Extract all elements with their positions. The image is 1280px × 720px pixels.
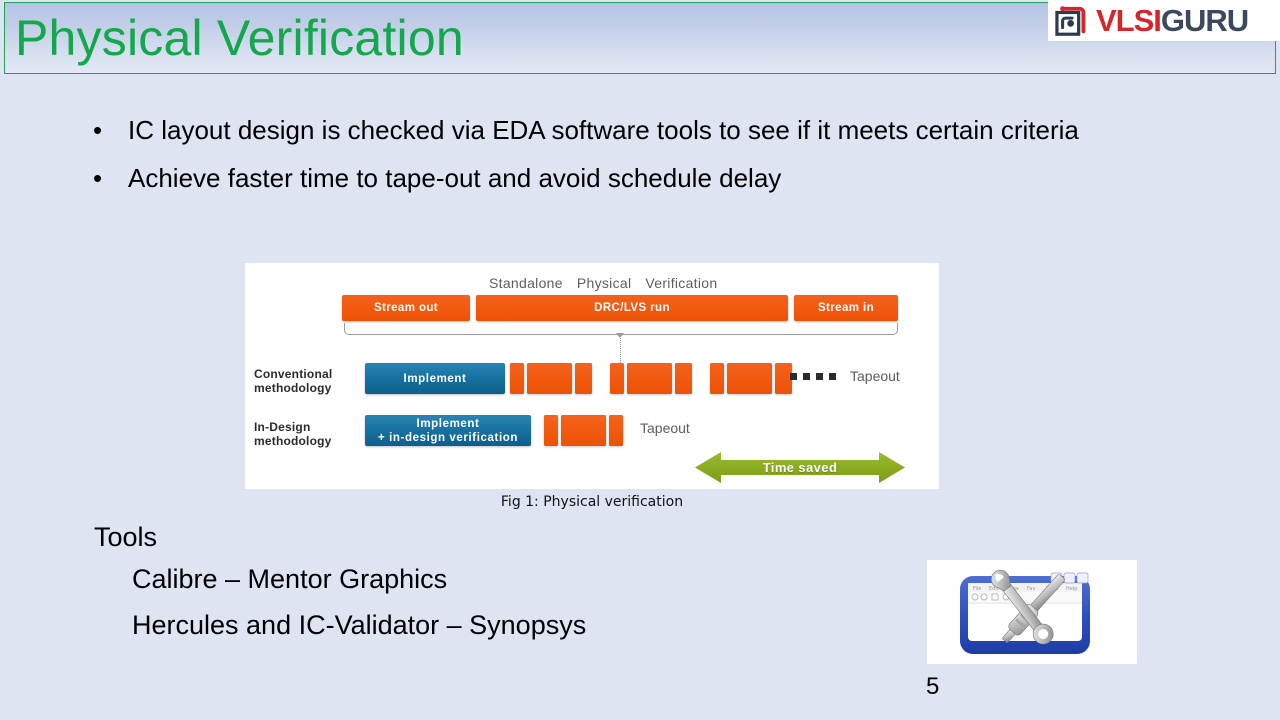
figure-row-label-in-design: In-Design methodology bbox=[254, 420, 332, 448]
figure-bar-label: Stream out bbox=[342, 295, 470, 321]
bullet-marker: • bbox=[88, 110, 128, 150]
svg-text:File: File bbox=[973, 586, 981, 592]
figure-header-standalone-physical-verification: StandalonePhysicalVerification bbox=[489, 275, 717, 291]
figure-bar-segment bbox=[727, 363, 772, 394]
figure-bar-segment bbox=[527, 363, 572, 394]
page-title: Physical Verification bbox=[15, 5, 464, 71]
bullet-text: IC layout design is checked via EDA soft… bbox=[128, 110, 1208, 150]
figure-bar-segment bbox=[710, 363, 724, 394]
figure-bar-label: Implement bbox=[417, 417, 480, 431]
figure-row-label-line: Conventional bbox=[254, 367, 332, 381]
vlsiguru-spiral-icon bbox=[1054, 4, 1092, 38]
figure-bar-label-secondary: + in-design verification bbox=[378, 431, 518, 445]
svg-text:Help: Help bbox=[1066, 586, 1077, 592]
figure-row-label-conventional: Conventional methodology bbox=[254, 367, 332, 395]
figure-bar-segment bbox=[510, 363, 524, 394]
bullet-marker: • bbox=[88, 158, 128, 198]
logo-text-guru: GURU bbox=[1161, 3, 1248, 38]
tools-heading: Tools bbox=[94, 518, 586, 556]
figure-row-label-line: methodology bbox=[254, 381, 332, 395]
figure-header-word: Standalone bbox=[489, 275, 563, 291]
tools-window-wrench-screwdriver-icon: File Edit View Fav Tools Help bbox=[927, 560, 1137, 664]
figure-bar-implement-in-design: Implement + in-design verification bbox=[365, 415, 531, 446]
page-number: 5 bbox=[926, 672, 939, 702]
slide-root: Physical Verification VLSIGURU • IC layo… bbox=[0, 0, 1280, 720]
figure-time-saved-label: Time saved bbox=[695, 451, 905, 484]
tools-list-item: Calibre – Mentor Graphics bbox=[132, 556, 586, 602]
figure-tapeout-dots-icon bbox=[790, 373, 836, 380]
bullet-item: • Achieve faster time to tape-out and av… bbox=[88, 158, 1208, 198]
figure-bar-segment bbox=[575, 363, 592, 394]
figure-bar-label: Stream in bbox=[794, 295, 898, 321]
tools-section: Tools Calibre – Mentor Graphics Hercules… bbox=[94, 518, 586, 648]
figure-row-label-line: methodology bbox=[254, 434, 332, 448]
figure-bar-segment bbox=[627, 363, 672, 394]
svg-text:Fav: Fav bbox=[1027, 586, 1035, 592]
figure-bar-segment bbox=[561, 415, 606, 446]
brand-logo-wordmark: VLSIGURU bbox=[1096, 4, 1248, 38]
figure-bar-segment bbox=[544, 415, 558, 446]
figure-caption: Fig 1: Physical verification bbox=[245, 494, 939, 510]
figure-bar-stream-out: Stream out bbox=[342, 295, 470, 321]
bullet-item: • IC layout design is checked via EDA so… bbox=[88, 110, 1208, 150]
figure-bar-segment bbox=[610, 363, 624, 394]
figure-tapeout-label-conventional: Tapeout bbox=[850, 368, 900, 384]
figure-tapeout-label-in-design: Tapeout bbox=[640, 420, 690, 436]
figure-row-label-line: In-Design bbox=[254, 420, 332, 434]
figure-bar-stream-in: Stream in bbox=[794, 295, 898, 321]
figure-physical-verification: StandalonePhysicalVerification Stream ou… bbox=[245, 263, 939, 489]
figure-bar-implement-conventional: Implement bbox=[365, 363, 505, 394]
figure-header-word: Verification bbox=[645, 275, 717, 291]
logo-text-vlsi: VLSI bbox=[1096, 3, 1161, 38]
bullet-text: Achieve faster time to tape-out and avoi… bbox=[128, 158, 1208, 198]
figure-bar-label: DRC/LVS run bbox=[476, 295, 788, 321]
brand-logo: VLSIGURU bbox=[1048, 0, 1280, 41]
figure-header-word: Physical bbox=[577, 275, 632, 291]
tools-list-item: Hercules and IC-Validator – Synopsys bbox=[132, 602, 586, 648]
figure-bar-segment bbox=[675, 363, 692, 394]
figure-bar-drc-lvs-run: DRC/LVS run bbox=[476, 295, 788, 321]
bullet-list: • IC layout design is checked via EDA so… bbox=[88, 110, 1208, 206]
figure-bar-label: Implement bbox=[404, 372, 467, 386]
figure-bar-segment bbox=[609, 415, 623, 446]
tools-illustration: File Edit View Fav Tools Help bbox=[927, 560, 1137, 664]
